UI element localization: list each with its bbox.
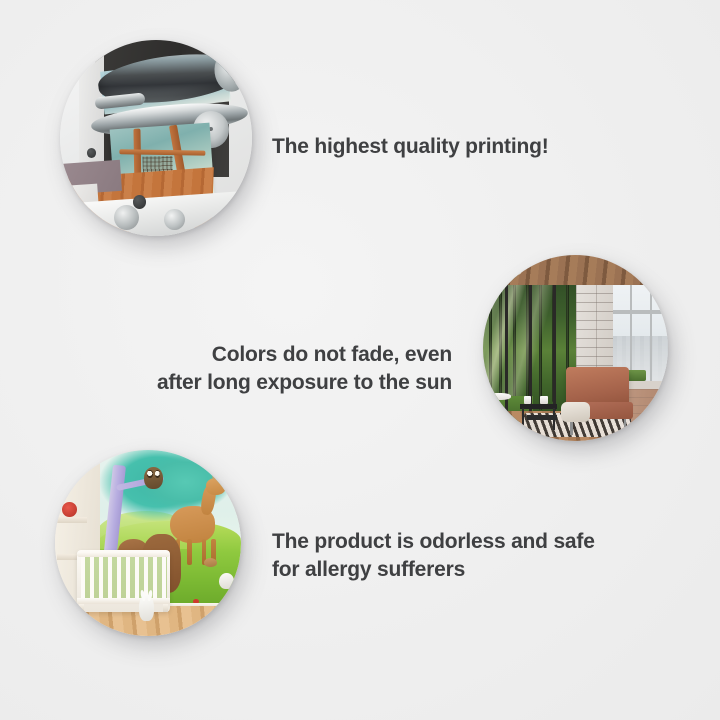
printing-press-photo (60, 40, 252, 236)
printing-press-photo-image (60, 40, 252, 236)
nursery-mural-photo-image (55, 450, 241, 636)
infographic-canvas: The highest quality printing! (0, 0, 720, 720)
caption-odorless-safe: The product is odorless and safe for all… (272, 528, 602, 583)
nursery-mural-photo (55, 450, 241, 636)
living-room-mural-photo-image (483, 255, 668, 441)
living-room-mural-photo (483, 255, 668, 441)
caption-quality-printing: The highest quality printing! (272, 133, 572, 161)
caption-fade-resistant: Colors do not fade, even after long expo… (132, 341, 452, 396)
